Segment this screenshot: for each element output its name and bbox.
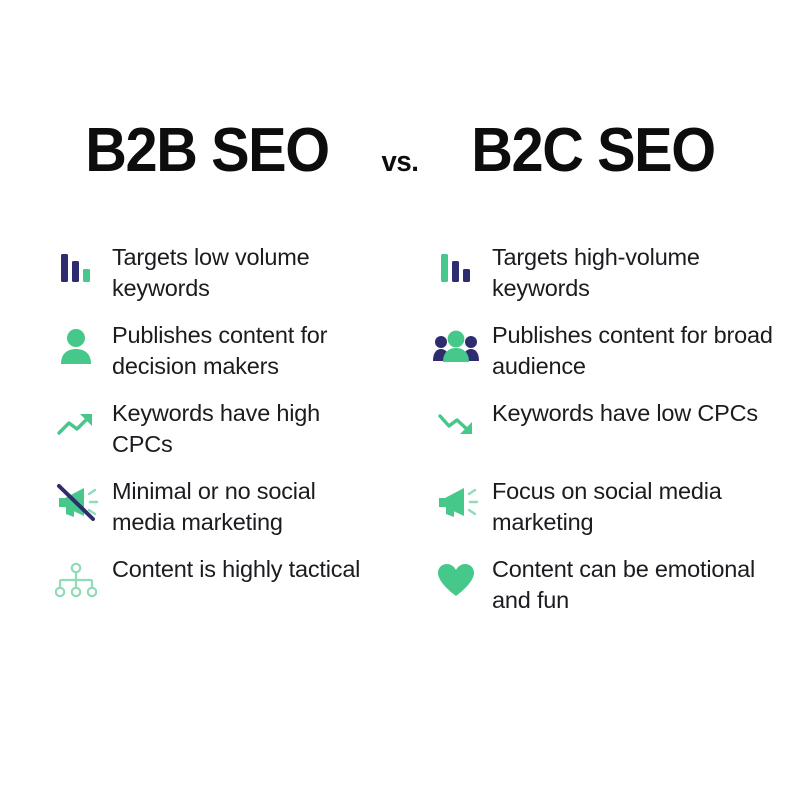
list-item-label: Focus on social media marketing	[492, 474, 782, 538]
list-item: Content can be emotional and fun	[432, 552, 782, 630]
list-item: Publishes content for decision makers	[52, 318, 374, 396]
column-b2b: Targets low volume keywords Publishes co…	[0, 240, 400, 630]
versus-label: vs.	[359, 147, 441, 177]
list-item: Focus on social media marketing	[432, 474, 782, 552]
list-item: Keywords have low CPCs	[432, 396, 782, 474]
list-item-label: Keywords have low CPCs	[492, 396, 758, 429]
headline: B2B SEO vs. B2C SEO	[0, 118, 800, 184]
list-item-label: Publishes content for broad audience	[492, 318, 782, 382]
bar-chart-ascending-icon	[432, 240, 480, 294]
list-item: Publishes content for broad audience	[432, 318, 782, 396]
list-item-label: Content can be emotional and fun	[492, 552, 782, 616]
list-item: Targets low volume keywords	[52, 240, 374, 318]
list-item-label: Publishes content for decision makers	[112, 318, 374, 382]
trend-up-arrow-icon	[52, 396, 100, 450]
megaphone-muted-icon	[52, 474, 100, 528]
page-title-right: B2C SEO	[454, 118, 733, 184]
person-icon	[52, 318, 100, 372]
list-item: Keywords have high CPCs	[52, 396, 374, 474]
column-b2c: Targets high-volume keywords Publishes c…	[400, 240, 800, 630]
megaphone-icon	[432, 474, 480, 528]
list-item-label: Keywords have high CPCs	[112, 396, 374, 460]
comparison-columns: Targets low volume keywords Publishes co…	[0, 240, 800, 630]
page-title-left: B2B SEO	[68, 118, 347, 184]
trend-down-arrow-icon	[432, 396, 480, 450]
list-item: Targets high-volume keywords	[432, 240, 782, 318]
list-item-label: Targets high-volume keywords	[492, 240, 782, 304]
list-item-label: Targets low volume keywords	[112, 240, 374, 304]
bar-chart-descending-icon	[52, 240, 100, 294]
heart-icon	[432, 552, 480, 606]
sitemap-icon	[52, 552, 100, 606]
infographic-canvas: B2B SEO vs. B2C SEO Targets low volume k…	[0, 0, 800, 800]
list-item: Content is highly tactical	[52, 552, 374, 630]
list-item: Minimal or no social media marketing	[52, 474, 374, 552]
people-group-icon	[432, 318, 480, 372]
list-item-label: Minimal or no social media marketing	[112, 474, 374, 538]
list-item-label: Content is highly tactical	[112, 552, 360, 585]
